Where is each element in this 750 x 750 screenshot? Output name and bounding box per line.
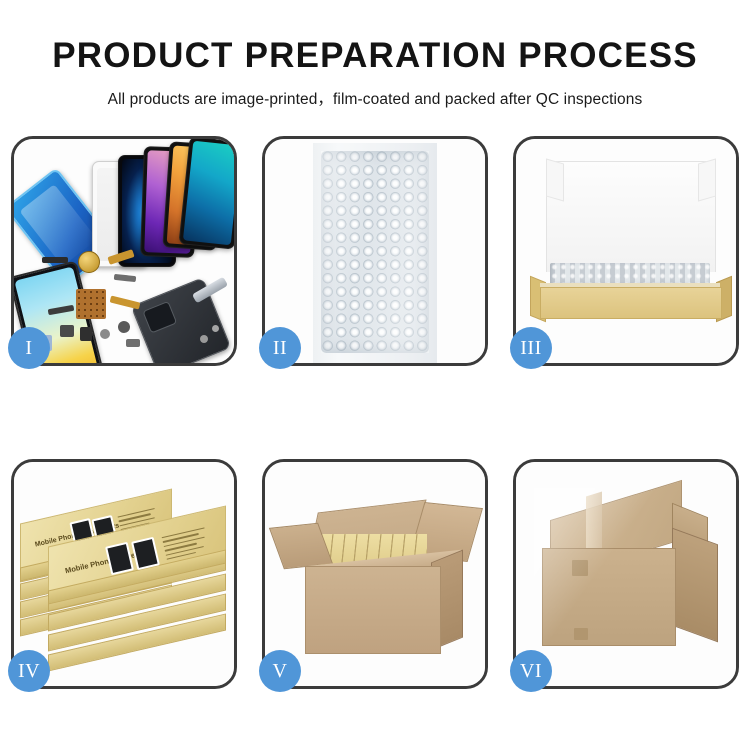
box-lid-flap-right bbox=[698, 158, 716, 201]
plastic-sheen bbox=[321, 151, 429, 353]
step-panel-6: VI bbox=[513, 459, 739, 689]
step-image-4: Mobile Phone Spare Parts bbox=[14, 462, 234, 686]
screw-grid-icon bbox=[76, 289, 106, 319]
steps-grid: I II III bbox=[11, 136, 739, 692]
step-badge-4: IV bbox=[8, 650, 50, 692]
box-lid-flap-left bbox=[546, 158, 564, 201]
retail-box-stack-front: Mobile Phone Spare Parts bbox=[48, 526, 224, 682]
step-badge-5: V bbox=[259, 650, 301, 692]
earpiece-mesh-icon bbox=[42, 257, 68, 263]
step-image-2 bbox=[265, 139, 485, 363]
flex-cable-icon bbox=[110, 295, 141, 309]
step-image-6 bbox=[516, 462, 736, 686]
box-front-panel bbox=[540, 287, 722, 319]
step-panel-3: III bbox=[513, 136, 739, 366]
step-panel-1: I bbox=[11, 136, 237, 366]
step-image-5 bbox=[265, 462, 485, 686]
screw-icon bbox=[200, 335, 208, 343]
carton-sheen bbox=[534, 488, 726, 654]
header: PRODUCT PREPARATION PROCESS All products… bbox=[0, 0, 750, 109]
page-title: PRODUCT PREPARATION PROCESS bbox=[0, 0, 750, 73]
speaker-coil-icon bbox=[78, 251, 100, 273]
part-icon bbox=[100, 329, 110, 339]
step-panel-4: Mobile Phone Spare Parts bbox=[11, 459, 237, 689]
box-lid bbox=[546, 161, 716, 272]
part-icon bbox=[126, 339, 140, 347]
ribbon-cable-icon bbox=[114, 274, 137, 282]
page-subtitle: All products are image-printed，film-coat… bbox=[0, 73, 750, 109]
product-preparation-infographic: PRODUCT PREPARATION PROCESS All products… bbox=[0, 0, 750, 750]
part-icon bbox=[80, 327, 92, 341]
step-badge-6: VI bbox=[510, 650, 552, 692]
step-image-1 bbox=[14, 139, 234, 363]
step-panel-5: V bbox=[262, 459, 488, 689]
step-image-3 bbox=[516, 139, 736, 363]
step-badge-1: I bbox=[8, 327, 50, 369]
carton-front-panel bbox=[305, 566, 441, 654]
part-icon bbox=[118, 321, 130, 333]
step-panel-2: II bbox=[262, 136, 488, 366]
phone-teal-screen-icon bbox=[179, 139, 234, 250]
screw-icon bbox=[212, 325, 219, 332]
part-icon bbox=[60, 325, 74, 337]
step-badge-3: III bbox=[510, 327, 552, 369]
step-badge-2: II bbox=[259, 327, 301, 369]
